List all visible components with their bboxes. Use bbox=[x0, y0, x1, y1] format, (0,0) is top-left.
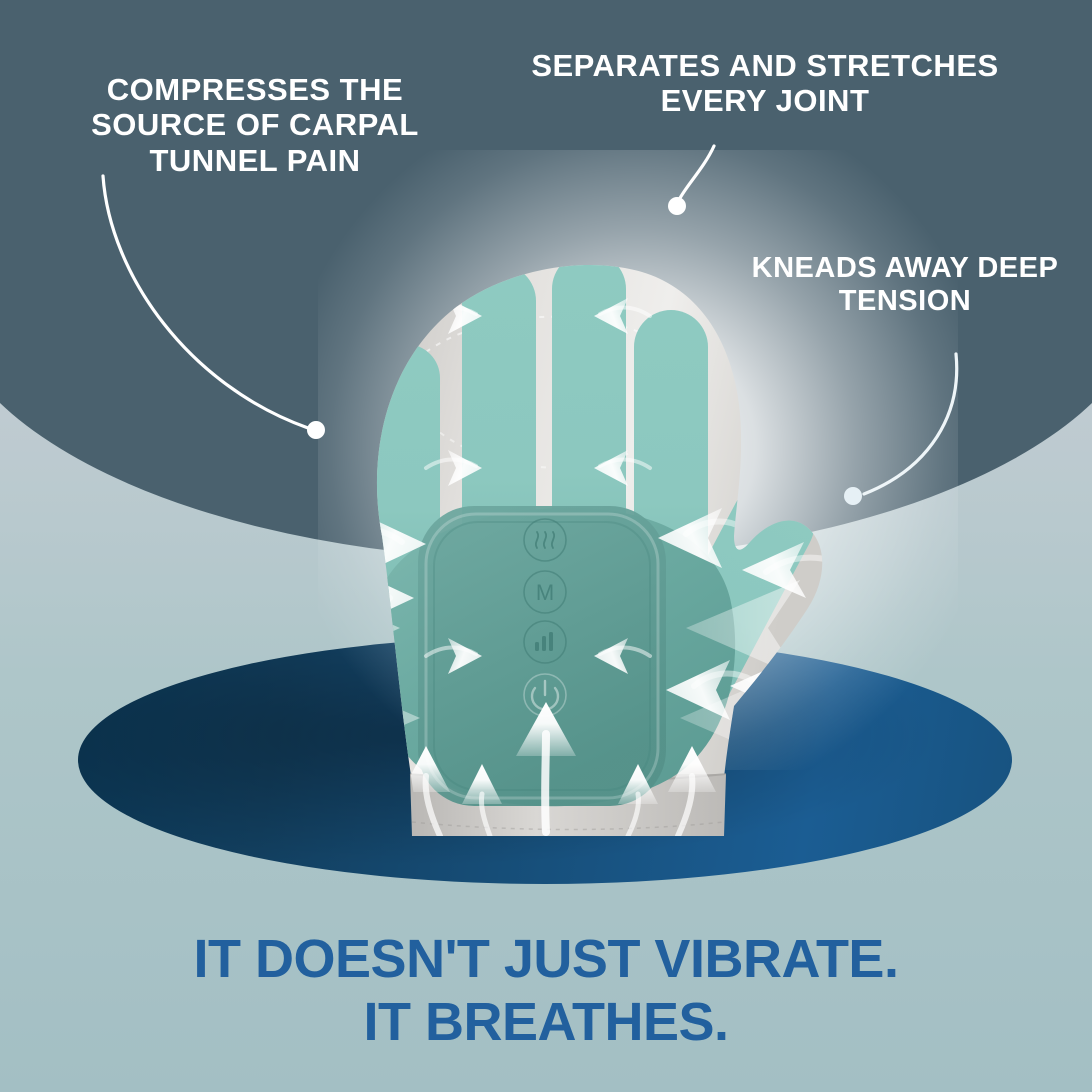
product-glove: M bbox=[330, 236, 850, 866]
mode-letter: M bbox=[536, 580, 554, 605]
headline: IT DOESN'T JUST VIBRATE. IT BREATHES. bbox=[0, 928, 1092, 1053]
callout-compresses: COMPRESSES THE SOURCE OF CARPAL TUNNEL P… bbox=[40, 72, 470, 178]
callout-separates: SEPARATES AND STRETCHES EVERY JOINT bbox=[480, 48, 1050, 119]
headline-line-1: IT DOESN'T JUST VIBRATE. bbox=[0, 928, 1092, 991]
callout-kneads: KNEADS AWAY DEEP TENSION bbox=[740, 252, 1070, 318]
headline-line-2: IT BREATHES. bbox=[0, 991, 1092, 1054]
infographic-canvas: M bbox=[0, 0, 1092, 1092]
